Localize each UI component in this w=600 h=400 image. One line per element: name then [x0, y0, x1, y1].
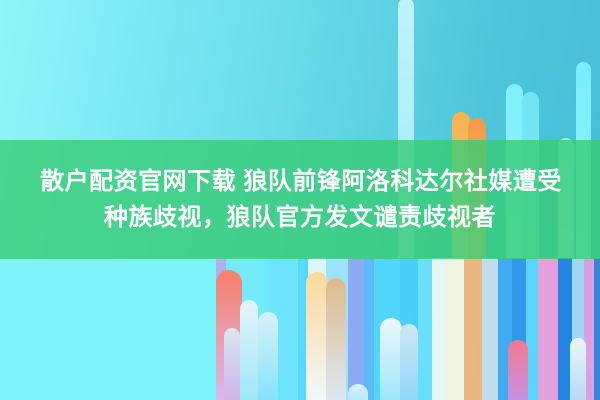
- bar-tan-1: [326, 278, 346, 400]
- bar-bubble-1: [348, 384, 368, 400]
- bar-white-2: [380, 318, 402, 400]
- stripe-cyan-g: [418, 258, 432, 400]
- stripe-pink-a: [538, 258, 558, 400]
- stripe-blue-e: [594, 258, 600, 400]
- stripe-blue-a: [364, 258, 374, 400]
- stripe-cyan-wide-left: [0, 258, 220, 400]
- banner-image: 散户配资官网下载 狼队前锋阿洛科达尔社媒遭受 种族歧视，狼队官方发文谴责歧视者: [0, 0, 600, 400]
- bar-white-3: [570, 338, 586, 400]
- headline-line-2: 种族歧视，狼队官方发文谴责歧视者: [104, 203, 496, 233]
- bar-cream-1: [306, 272, 328, 400]
- stripe-periwinkle-a: [348, 258, 364, 400]
- stripe-paleblue-a: [482, 258, 498, 400]
- stripe-white-b: [432, 258, 446, 400]
- stripe-cream-a: [446, 258, 464, 400]
- bar-rose-1: [508, 340, 528, 400]
- headline: 散户配资官网下载 狼队前锋阿洛科达尔社媒遭受 种族歧视，狼队官方发文谴责歧视者: [0, 140, 600, 259]
- bar-paleblue-1: [258, 312, 278, 400]
- headline-line-1: 散户配资官网下载 狼队前锋阿洛科达尔社媒遭受: [38, 167, 562, 197]
- bar-white-1: [240, 300, 258, 400]
- bar-lilac-1: [224, 328, 240, 400]
- stripe-orange-b: [464, 258, 482, 400]
- lower-stripe-group: [0, 258, 600, 400]
- bar-paleblue-2: [400, 324, 418, 400]
